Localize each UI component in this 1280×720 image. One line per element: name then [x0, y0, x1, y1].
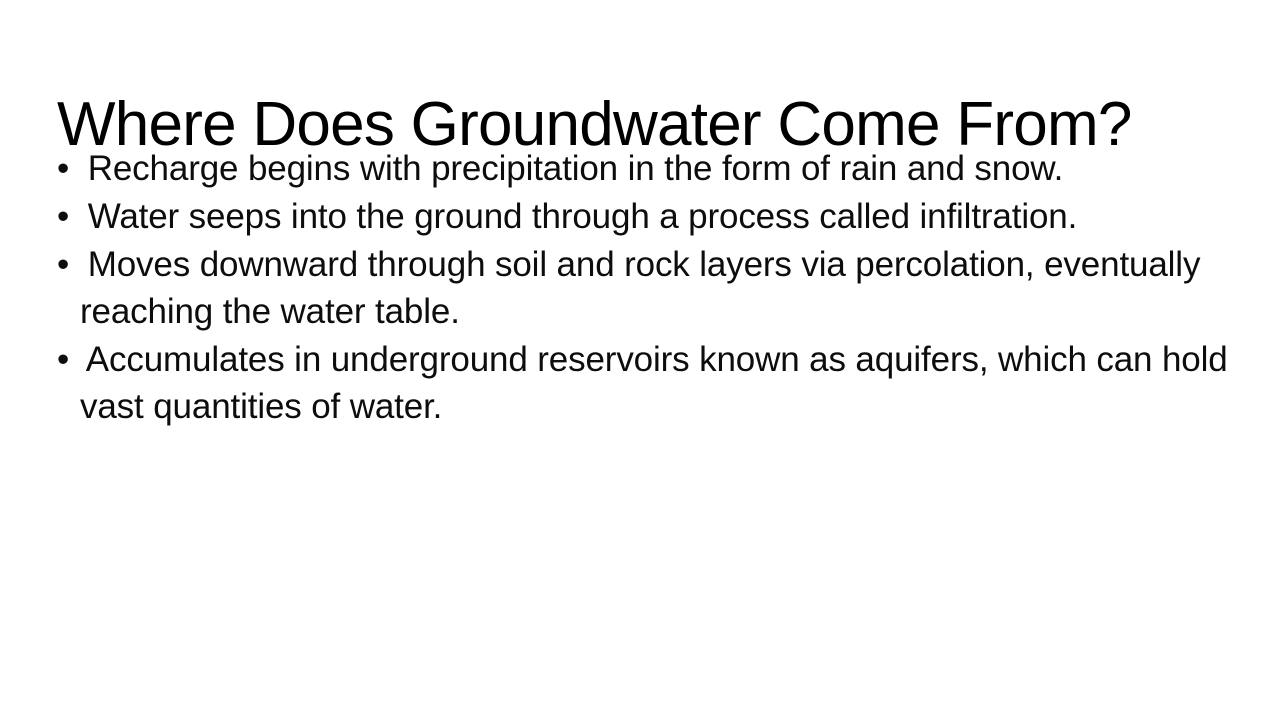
list-item: • Water seeps into the ground through a … — [57, 193, 1237, 240]
list-item: • Accumulates in underground reservoirs … — [57, 336, 1237, 430]
list-item: • Moves downward through soil and rock l… — [57, 241, 1237, 335]
list-item-text: Accumulates in underground reservoirs kn… — [80, 340, 1228, 426]
bullet-list: • Recharge begins with precipitation in … — [57, 145, 1237, 431]
bullet-icon: • — [57, 245, 69, 284]
bullet-icon: • — [57, 340, 69, 379]
list-item: • Recharge begins with precipitation in … — [57, 145, 1237, 192]
list-item-text: Water seeps into the ground through a pr… — [88, 197, 1077, 236]
list-item-text: Moves downward through soil and rock lay… — [80, 245, 1200, 331]
bullet-icon: • — [57, 197, 69, 236]
slide-canvas: Where Does Groundwater Come From? • Rech… — [0, 0, 1280, 720]
bullet-icon: • — [57, 149, 69, 188]
list-item-text: Recharge begins with precipitation in th… — [88, 149, 1063, 188]
